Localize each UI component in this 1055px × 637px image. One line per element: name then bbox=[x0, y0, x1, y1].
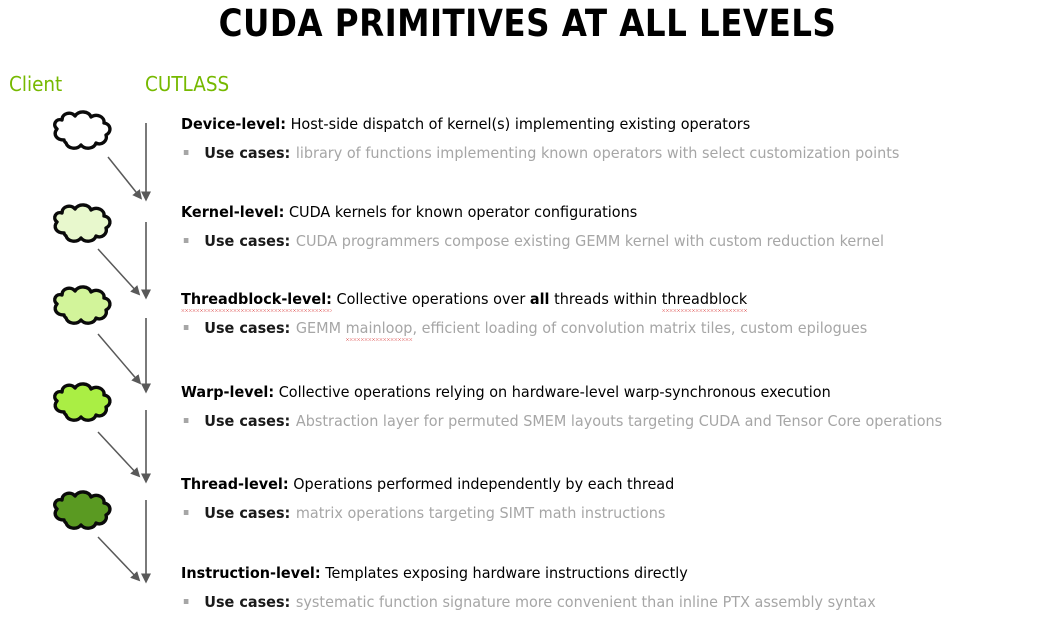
diagonal-arrow-3 bbox=[98, 334, 139, 382]
usecase-label: Use cases: bbox=[204, 231, 290, 251]
level-heading-instruction: Instruction-level: Templates exposing ha… bbox=[181, 563, 990, 583]
client-cloud-threadblock bbox=[55, 287, 110, 323]
usecase-part-misspelled: mainloop bbox=[346, 318, 413, 338]
usecase-row-instruction: Use cases: systematic function signature… bbox=[181, 592, 990, 612]
usecase-label: Use cases: bbox=[204, 592, 290, 612]
usecase-label: Use cases: bbox=[204, 411, 290, 431]
usecase-part: GEMM bbox=[296, 319, 346, 337]
usecase-label: Use cases: bbox=[204, 503, 290, 523]
client-cloud-kernel bbox=[55, 205, 110, 241]
usecase-row-threadblock: Use cases: GEMM mainloop, efficient load… bbox=[181, 318, 990, 338]
level-description-device: Host-side dispatch of kernel(s) implemen… bbox=[291, 115, 751, 133]
usecase-text-instruction: systematic function signature more conve… bbox=[296, 592, 876, 612]
bullet-icon bbox=[184, 510, 189, 515]
usecase-text-threadblock: GEMM mainloop, efficient loading of conv… bbox=[296, 318, 867, 338]
usecase-row-device: Use cases: library of functions implemen… bbox=[181, 143, 990, 163]
usecase-text-device: library of functions implementing known … bbox=[296, 143, 899, 163]
usecase-row-thread: Use cases: matrix operations targeting S… bbox=[181, 503, 990, 523]
diagonal-arrow-5 bbox=[98, 537, 138, 579]
level-description-thread: Operations performed independently by ea… bbox=[293, 475, 674, 493]
diagonal-arrow-4 bbox=[98, 432, 138, 475]
level-name-warp: Warp-level: bbox=[181, 383, 274, 401]
level-heading-warp: Warp-level: Collective operations relyin… bbox=[181, 382, 990, 402]
diagonal-arrow-2 bbox=[98, 249, 138, 293]
level-block-instruction: Instruction-level: Templates exposing ha… bbox=[181, 563, 1051, 612]
usecase-text-warp: Abstraction layer for permuted SMEM layo… bbox=[296, 411, 942, 431]
level-name-instruction: Instruction-level: bbox=[181, 564, 321, 582]
desc-part: Collective operations over bbox=[336, 290, 529, 308]
bullet-icon bbox=[184, 418, 189, 423]
usecase-text-kernel: CUDA programmers compose existing GEMM k… bbox=[296, 231, 884, 251]
level-description-kernel: CUDA kernels for known operator configur… bbox=[289, 203, 637, 221]
usecase-text-thread: matrix operations targeting SIMT math in… bbox=[296, 503, 665, 523]
level-block-threadblock: Threadblock-level: Collective operations… bbox=[181, 289, 1051, 338]
level-description-warp: Collective operations relying on hardwar… bbox=[279, 383, 831, 401]
level-block-kernel: Kernel-level: CUDA kernels for known ope… bbox=[181, 202, 1051, 251]
usecase-label: Use cases: bbox=[204, 143, 290, 163]
level-name-threadblock: Threadblock-level: bbox=[181, 289, 332, 309]
level-block-device: Device-level: Host-side dispatch of kern… bbox=[181, 114, 1051, 163]
client-cloud-device bbox=[55, 112, 110, 148]
level-block-warp: Warp-level: Collective operations relyin… bbox=[181, 382, 1051, 431]
bullet-icon bbox=[184, 238, 189, 243]
diagonal-arrow-1 bbox=[108, 157, 140, 197]
level-heading-kernel: Kernel-level: CUDA kernels for known ope… bbox=[181, 202, 990, 222]
level-description-instruction: Templates exposing hardware instructions… bbox=[325, 564, 688, 582]
bullet-icon bbox=[184, 325, 189, 330]
level-name-kernel: Kernel-level: bbox=[181, 203, 284, 221]
page-title: CUDA PRIMITIVES AT ALL LEVELS bbox=[63, 2, 991, 45]
level-block-thread: Thread-level: Operations performed indep… bbox=[181, 474, 1051, 523]
bullet-icon bbox=[184, 599, 189, 604]
level-name-thread: Thread-level: bbox=[181, 475, 289, 493]
client-cloud-warp bbox=[55, 384, 110, 420]
usecase-row-kernel: Use cases: CUDA programmers compose exis… bbox=[181, 231, 990, 251]
client-cutlass-flow-diagram bbox=[0, 0, 185, 637]
desc-part-emphasis: all bbox=[530, 290, 550, 308]
level-heading-device: Device-level: Host-side dispatch of kern… bbox=[181, 114, 990, 134]
desc-part: threads within bbox=[549, 290, 661, 308]
client-cloud-thread bbox=[55, 492, 110, 528]
level-description-threadblock: Collective operations over all threads w… bbox=[336, 290, 747, 308]
usecase-label: Use cases: bbox=[204, 318, 290, 338]
level-heading-threadblock: Threadblock-level: Collective operations… bbox=[181, 289, 990, 309]
desc-part-misspelled: threadblock bbox=[662, 289, 748, 309]
bullet-icon bbox=[184, 150, 189, 155]
level-heading-thread: Thread-level: Operations performed indep… bbox=[181, 474, 990, 494]
usecase-part: , efficient loading of convolution matri… bbox=[412, 319, 867, 337]
usecase-row-warp: Use cases: Abstraction layer for permute… bbox=[181, 411, 990, 431]
level-name-device: Device-level: bbox=[181, 115, 286, 133]
